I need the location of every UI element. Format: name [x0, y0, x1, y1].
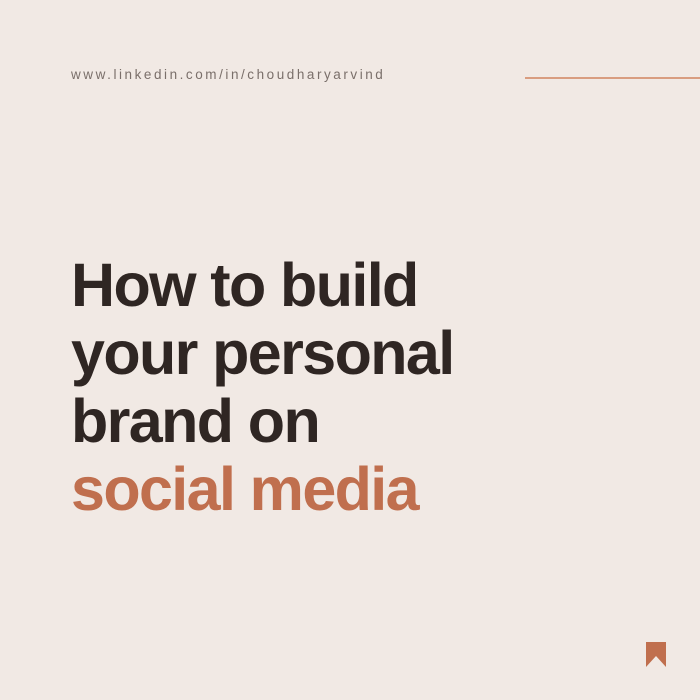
- header: www.linkedin.com/in/choudharyarvind: [0, 0, 700, 100]
- header-divider-rule: [525, 77, 700, 79]
- headline-line-2: your personal: [71, 319, 631, 387]
- profile-url-text: www.linkedin.com/in/choudharyarvind: [71, 68, 385, 82]
- headline-line-3: brand on: [71, 387, 631, 455]
- headline-line-4-accent: social media: [71, 455, 631, 523]
- headline-line-1: How to build: [71, 251, 631, 319]
- social-post-canvas: www.linkedin.com/in/choudharyarvind How …: [0, 0, 700, 700]
- bookmark-icon-glyph: [646, 642, 666, 667]
- bookmark-icon: [646, 642, 666, 667]
- headline-block: How to build your personal brand on soci…: [71, 251, 631, 523]
